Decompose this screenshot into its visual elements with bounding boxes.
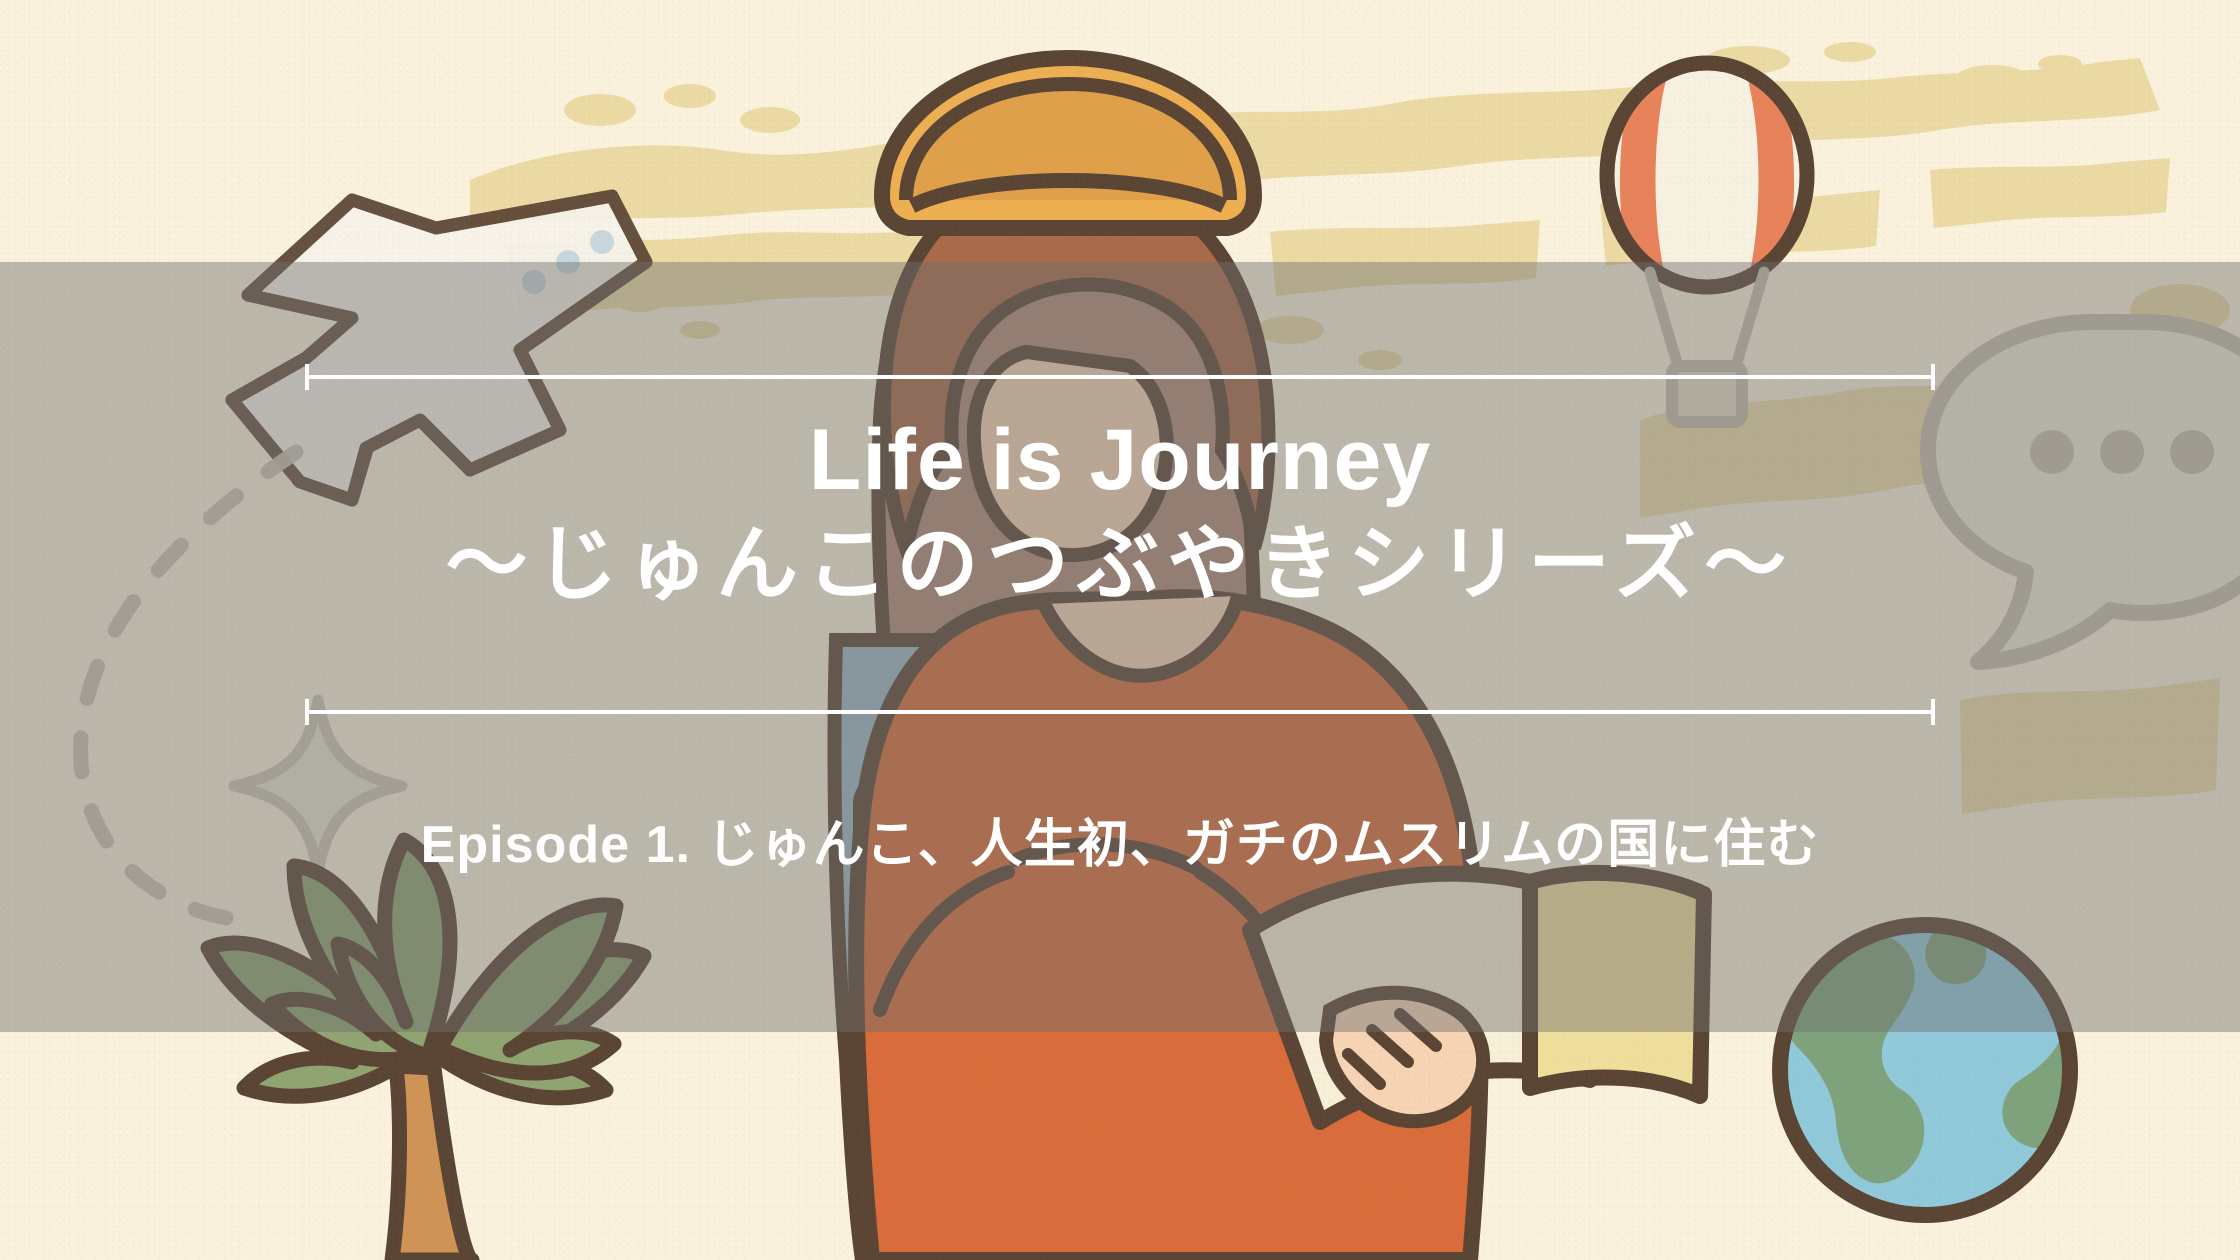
divider-rule-top xyxy=(305,375,1935,379)
title-block: Life is Journey 〜じゅんこのつぶやきシリーズ〜 Episode … xyxy=(0,262,2240,1032)
title-group: Life is Journey 〜じゅんこのつぶやきシリーズ〜 xyxy=(0,410,2240,616)
page-title: Life is Journey xyxy=(0,410,2240,511)
page-subtitle: 〜じゅんこのつぶやきシリーズ〜 xyxy=(0,515,2240,615)
episode-label: Episode 1. じゅんこ、人生初、ガチのムスリムの国に住む xyxy=(0,802,2240,877)
divider-rule-bottom xyxy=(305,710,1935,714)
youtube-thumbnail: Life is Journey 〜じゅんこのつぶやきシリーズ〜 Episode … xyxy=(0,0,2240,1260)
